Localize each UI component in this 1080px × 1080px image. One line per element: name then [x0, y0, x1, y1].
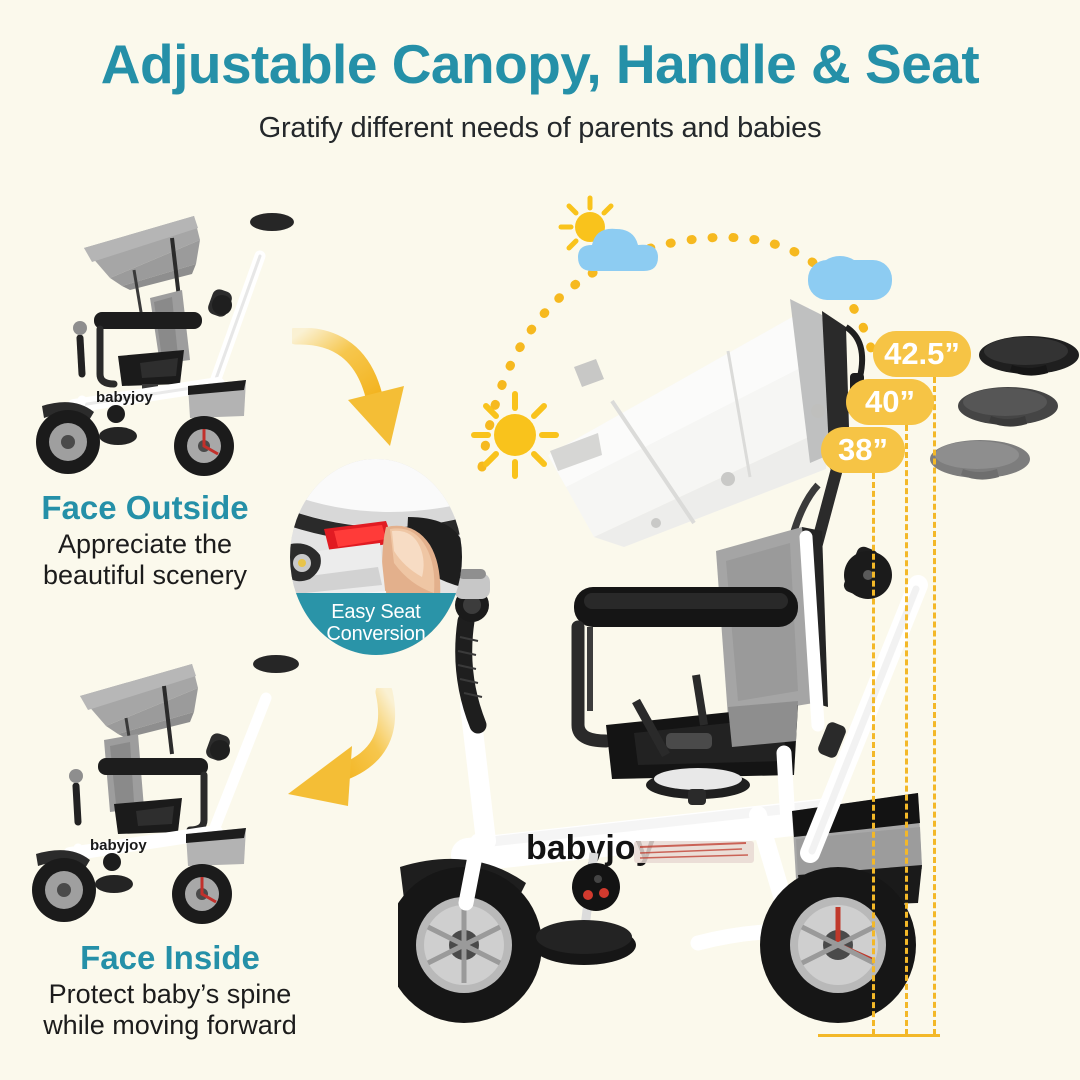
handle-grip-position-high [976, 333, 1080, 379]
caption-heading: Face Outside [0, 490, 290, 526]
page-title: Adjustable Canopy, Handle & Seat [0, 36, 1080, 94]
handle-grip-position-mid [955, 384, 1061, 430]
brand-text-bl: babyjoy [90, 837, 147, 854]
caption-heading: Face Inside [0, 940, 340, 976]
height-guide-line-2 [905, 425, 908, 1035]
height-badge-40: 40” [846, 379, 934, 425]
page-subtitle: Gratify different needs of parents and b… [0, 112, 1080, 145]
caption-line-2: beautiful scenery [0, 560, 290, 591]
handle-grip-position-low [927, 437, 1033, 483]
caption-line-1: Protect baby’s spine [0, 979, 340, 1010]
inset-caption-band: Easy Seat Conversion [290, 593, 462, 655]
height-badge-42-5: 42.5” [873, 331, 971, 377]
infographic-canvas: Adjustable Canopy, Handle & Seat Gratify… [0, 0, 1080, 1080]
height-badge-38: 38” [821, 427, 905, 473]
caption-face-outside: Face Outside Appreciate the beautiful sc… [0, 490, 290, 590]
trike-main-art: babyjoy [398, 299, 922, 1023]
caption-line-2: while moving forward [0, 1010, 340, 1041]
height-guide-line-1 [933, 377, 936, 1035]
height-guide-line-3 [872, 473, 875, 1035]
tricycle-face-outside-image: babyjoy [22, 178, 322, 478]
caption-line-1: Appreciate the [0, 529, 290, 560]
trike-tl-art: babyjoy [36, 213, 294, 476]
inset-caption-line-2: Conversion [326, 624, 425, 646]
height-baseline [818, 1034, 940, 1037]
inset-caption-line-1: Easy Seat [326, 602, 425, 624]
brand-text-tl: babyjoy [96, 389, 153, 406]
caption-face-inside: Face Inside Protect baby’s spine while m… [0, 940, 340, 1040]
easy-seat-conversion-inset: Easy Seat Conversion [290, 459, 462, 655]
trike-bl-art: babyjoy [32, 655, 299, 924]
